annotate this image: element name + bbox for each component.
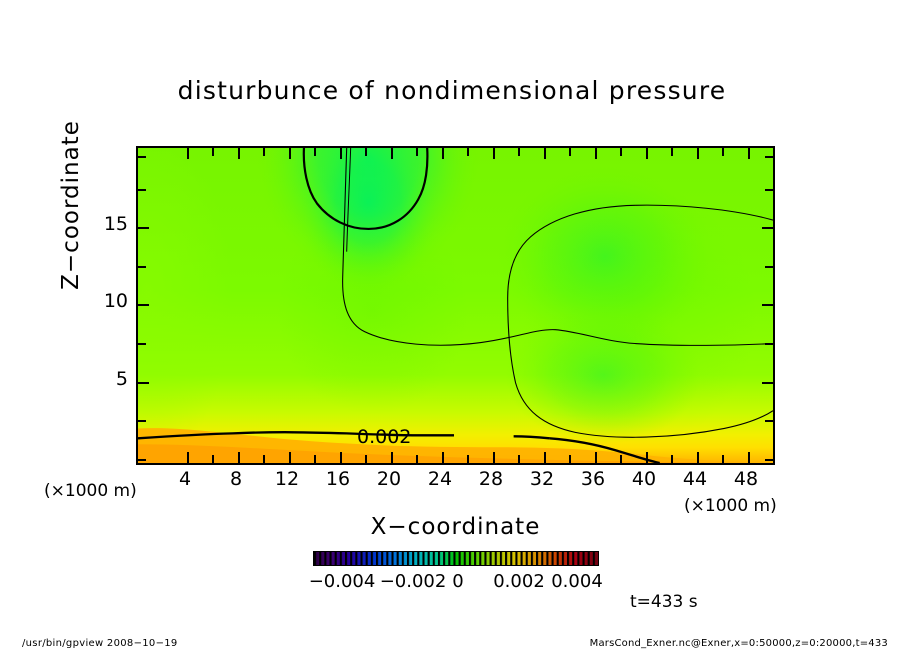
x-tick-top: [391, 148, 393, 159]
x-tick-top: [212, 148, 214, 156]
footer-command-stamp: /usr/bin/gpview 2008−10−19: [22, 638, 178, 649]
x-tick-top: [748, 148, 750, 159]
x-tick: [238, 452, 240, 463]
y-tick: [138, 189, 146, 191]
x-axis-unit-label: (×1000 m): [684, 496, 777, 516]
x-tick: [340, 452, 342, 463]
contour-level-label: 0.002: [357, 426, 411, 448]
x-tick-top: [671, 148, 673, 156]
x-tick-top: [697, 148, 699, 159]
colorbar-tick-label: 0.004: [532, 571, 622, 592]
y-tick-right: [765, 266, 773, 268]
colorbar: [313, 551, 599, 566]
y-tick-right: [765, 156, 773, 158]
y-tick: [138, 304, 149, 306]
y-axis-title: Z−coordinate: [58, 90, 84, 320]
x-tick-top: [544, 148, 546, 159]
x-tick-top: [569, 148, 571, 156]
y-tick-right: [765, 459, 773, 461]
x-tick-top: [314, 148, 316, 156]
x-tick-top: [238, 148, 240, 159]
x-tick: [442, 452, 444, 463]
x-tick-top: [493, 148, 495, 159]
y-tick-label: 10: [82, 290, 128, 312]
x-tick-top: [467, 148, 469, 156]
footer-source-stamp: MarsCond_Exner.nc@Exner,x=0:50000,z=0:20…: [590, 638, 888, 649]
time-label: t=433 s: [630, 592, 698, 612]
x-tick: [212, 455, 214, 463]
y-tick: [138, 266, 146, 268]
y-tick: [138, 227, 149, 229]
x-tick: [391, 452, 393, 463]
x-tick-top: [340, 148, 342, 159]
x-tick-top: [442, 148, 444, 159]
x-tick: [416, 455, 418, 463]
y-tick-right: [762, 227, 773, 229]
x-tick: [722, 455, 724, 463]
x-tick: [595, 452, 597, 463]
y-tick-right: [765, 343, 773, 345]
x-tick: [289, 452, 291, 463]
y-tick-right: [762, 304, 773, 306]
x-tick-top: [620, 148, 622, 156]
x-tick-top: [187, 148, 189, 159]
x-tick: [263, 455, 265, 463]
x-tick: [773, 455, 775, 463]
x-tick: [748, 452, 750, 463]
x-tick: [518, 455, 520, 463]
y-tick: [138, 382, 149, 384]
y-tick-right: [762, 382, 773, 384]
y-tick-right: [765, 420, 773, 422]
x-tick-top: [263, 148, 265, 156]
x-tick: [697, 452, 699, 463]
y-tick-right: [765, 189, 773, 191]
chart-title: disturbunce of nondimensional pressure: [0, 76, 904, 105]
x-tick: [544, 452, 546, 463]
x-tick-top: [289, 148, 291, 159]
contour-plot-area: 0.002: [136, 146, 775, 465]
x-tick: [569, 455, 571, 463]
x-tick: [314, 455, 316, 463]
x-tick-top: [595, 148, 597, 159]
y-tick: [138, 343, 146, 345]
x-tick: [467, 455, 469, 463]
x-tick-top: [646, 148, 648, 159]
x-tick: [646, 452, 648, 463]
x-tick-top: [416, 148, 418, 156]
y-tick-label: 15: [82, 213, 128, 235]
y-tick: [138, 459, 146, 461]
y-tick: [138, 420, 146, 422]
x-tick: [493, 452, 495, 463]
x-tick: [671, 455, 673, 463]
x-tick: [620, 455, 622, 463]
x-tick: [187, 452, 189, 463]
x-tick: [365, 455, 367, 463]
x-tick-top: [773, 148, 775, 156]
y-tick-label: 5: [82, 368, 128, 390]
x-axis-title: X−coordinate: [136, 514, 775, 540]
x-tick-top: [722, 148, 724, 156]
x-tick-label: 48: [716, 468, 776, 490]
x-tick-top: [518, 148, 520, 156]
y-tick: [138, 156, 146, 158]
y-axis-unit-label: (×1000 m): [44, 481, 137, 501]
contour-field: [138, 148, 773, 463]
x-tick-top: [365, 148, 367, 156]
